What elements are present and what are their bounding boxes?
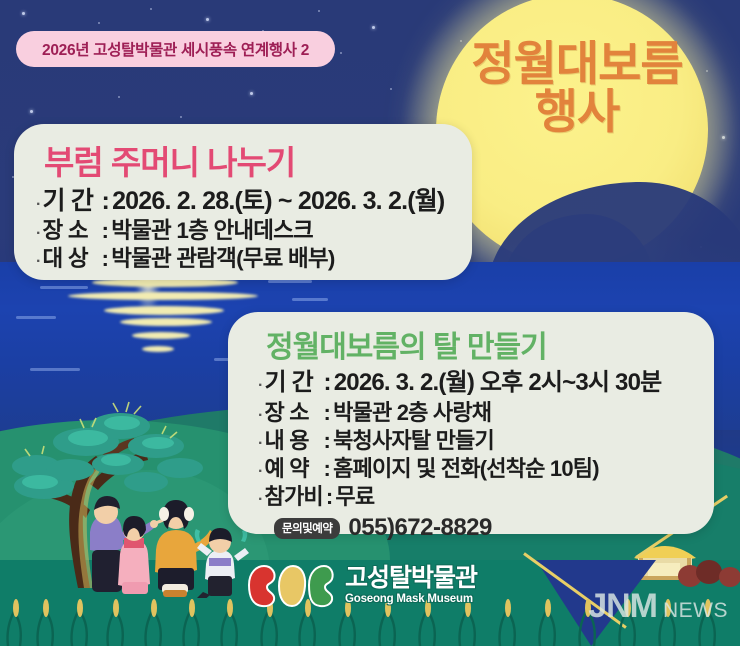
watermark: JNM NEWS — [588, 587, 728, 626]
main-title-line-1: 정월대보름 — [471, 37, 682, 90]
info-row-value: 2026. 2. 28.(토) ~ 2026. 3. 2.(월) — [112, 186, 444, 217]
museum-name-en: Goseong Mask Museum — [345, 594, 477, 606]
info-row-label: 기 간 — [43, 186, 99, 217]
bullet-icon: · — [36, 226, 41, 242]
info-row-value: 홈페이지 및 전화(선착순 10팀) — [333, 455, 599, 483]
info-row: · 장 소 : 박물관 1층 안내데스크 — [36, 217, 472, 245]
info-row-value: 북청사자탈 만들기 — [333, 427, 494, 455]
contact-pill-label: 문의및예약 — [274, 518, 340, 539]
main-title-line-2: 행사 — [432, 88, 722, 136]
moon-reflection-streak — [132, 332, 190, 339]
family-illustration — [70, 478, 250, 598]
info-row-value: 박물관 1층 안내데스크 — [111, 217, 313, 245]
info-card-bureom: 부럼 주머니 나누기 · 기 간 : 2026. 2. 28.(토) ~ 202… — [14, 124, 472, 280]
bullet-icon: · — [258, 492, 263, 508]
info-row: · 내 용 : 북청사자탈 만들기 — [258, 427, 714, 455]
bullet-icon: · — [258, 378, 263, 394]
contact-row: 문의및예약 055)672-8829 — [258, 514, 714, 542]
info-card-mask-making-rows: · 기 간 : 2026. 3. 2.(월) 오후 2시~3시 30분 · 장 … — [258, 368, 714, 511]
event-series-badge: 2026년 고성탈박물관 세시풍속 연계행사 2 — [16, 31, 335, 67]
info-row: · 대 상 : 박물관 관람객(무료 배부) — [36, 245, 472, 273]
watermark-brand: JNM — [588, 587, 657, 626]
bullet-icon: · — [258, 408, 263, 424]
info-row-label: 내 용 — [265, 427, 321, 455]
info-row: · 예 약 : 홈페이지 및 전화(선착순 10팀) — [258, 455, 714, 483]
info-row-separator: : — [324, 455, 331, 483]
bush-cluster-illustration — [678, 558, 740, 588]
moon-reflection-streak — [68, 292, 258, 300]
info-row-label: 참가비 — [265, 483, 323, 511]
info-card-bureom-rows: · 기 간 : 2026. 2. 28.(토) ~ 2026. 3. 2.(월)… — [36, 186, 472, 273]
contact-phone-number[interactable]: 055)672-8829 — [348, 514, 491, 542]
info-row-label: 장 소 — [43, 217, 99, 245]
poster-canvas: 2026년 고성탈박물관 세시풍속 연계행사 2 정월대보름 행사 부럼 주머니… — [0, 0, 740, 646]
bullet-icon: · — [36, 197, 41, 213]
info-row-separator: : — [324, 368, 331, 399]
info-card-bureom-title: 부럼 주머니 나누기 — [36, 136, 472, 184]
info-row-value: 박물관 관람객(무료 배부) — [111, 245, 334, 273]
event-series-badge-label: 2026년 고성탈박물관 세시풍속 연계행사 2 — [42, 38, 309, 60]
info-row-value: 박물관 2층 사랑채 — [333, 399, 491, 427]
museum-logo: 고성탈박물관 Goseong Mask Museum — [243, 558, 507, 614]
info-row-separator: : — [326, 483, 333, 511]
moon-reflection-streak — [120, 318, 212, 326]
info-row: · 장 소 : 박물관 2층 사랑채 — [258, 399, 714, 427]
info-row-separator: : — [102, 245, 109, 273]
info-row-label: 기 간 — [265, 368, 321, 399]
museum-name-ko: 고성탈박물관 — [345, 566, 477, 591]
watermark-suffix: NEWS — [663, 599, 728, 623]
poster-main-title: 정월대보름 행사 — [432, 40, 722, 136]
info-row-label: 예 약 — [265, 455, 321, 483]
bullet-icon: · — [36, 254, 41, 270]
info-row-separator: : — [324, 427, 331, 455]
info-row-value: 2026. 3. 2.(월) 오후 2시~3시 30분 — [334, 368, 662, 399]
bullet-icon: · — [258, 436, 263, 452]
info-row-separator: : — [102, 217, 109, 245]
info-row: · 참가비 : 무료 — [258, 483, 714, 511]
museum-logo-text: 고성탈박물관 Goseong Mask Museum — [345, 566, 477, 606]
figure-girl — [118, 516, 150, 594]
info-row: · 기 간 : 2026. 2. 28.(토) ~ 2026. 3. 2.(월) — [36, 186, 472, 217]
moon-reflection-streak — [142, 346, 174, 352]
info-row-label: 장 소 — [265, 399, 321, 427]
info-card-mask-making-title: 정월대보름의 탈 만들기 — [258, 322, 714, 366]
info-row-separator: : — [324, 399, 331, 427]
info-card-mask-making: 정월대보름의 탈 만들기 · 기 간 : 2026. 3. 2.(월) 오후 2… — [228, 312, 714, 534]
moon-reflection-streak — [104, 306, 224, 315]
info-row-separator: : — [102, 186, 110, 217]
info-row-label: 대 상 — [43, 245, 99, 273]
info-row-value: 무료 — [335, 483, 374, 511]
mask-trio-icon — [243, 563, 335, 609]
info-row: · 기 간 : 2026. 3. 2.(월) 오후 2시~3시 30분 — [258, 368, 714, 399]
bullet-icon: · — [258, 464, 263, 480]
